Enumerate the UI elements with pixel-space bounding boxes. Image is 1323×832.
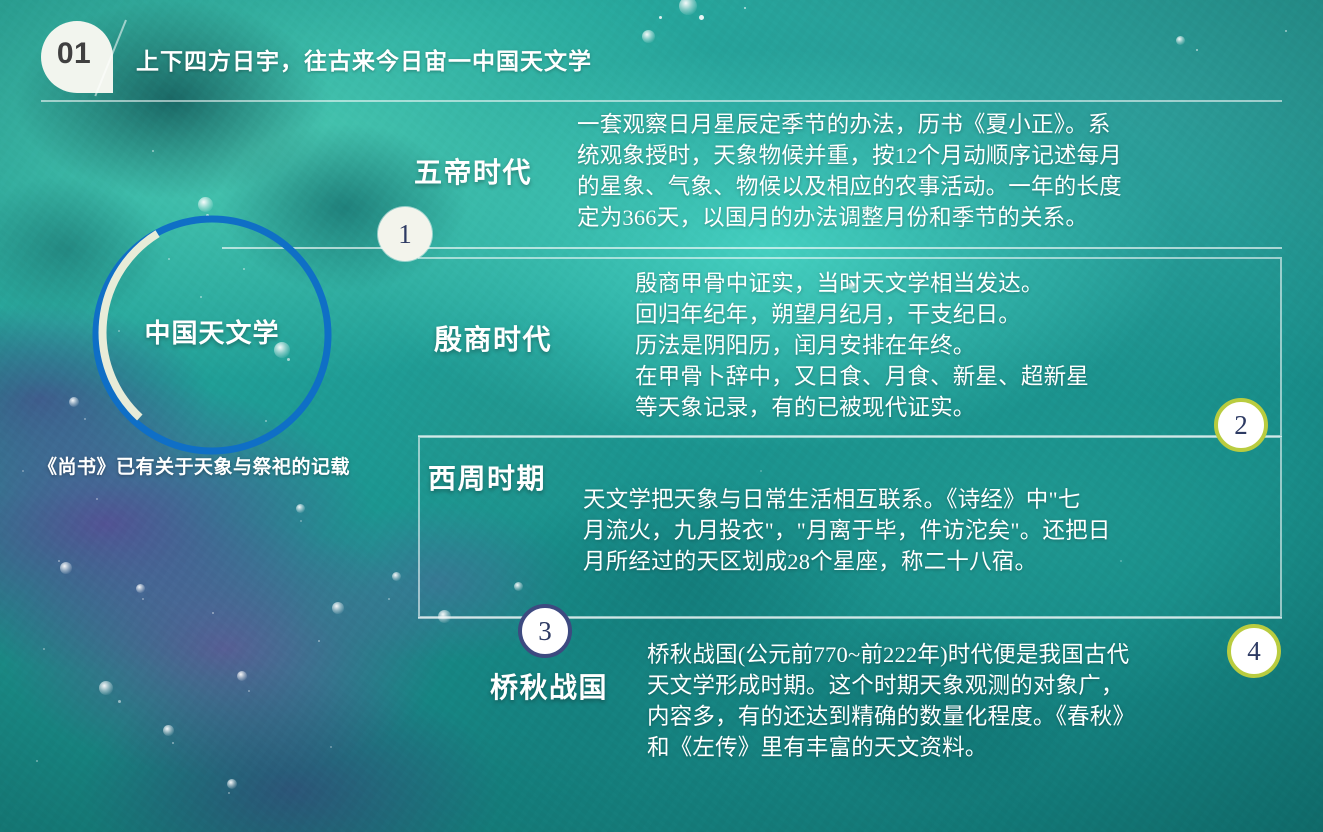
ring-caption: 《尚书》已有关于天象与祭祀的记载: [38, 452, 350, 479]
step-bubble-4-label: 4: [1247, 636, 1261, 667]
era-title-3: 西周时期: [428, 457, 546, 497]
step-bubble-2-label: 2: [1234, 410, 1248, 441]
step-bubble-3-label: 3: [538, 616, 552, 647]
era-title-4: 桥秋战国: [490, 666, 608, 706]
ring-center-label: 中国天文学: [84, 313, 340, 350]
era-body-2: 殷商甲骨中证实，当时天文学相当发达。 回归年纪年，朔望月纪月，干支纪日。 历法是…: [635, 268, 1235, 423]
era-title-1: 五帝时代: [414, 151, 532, 191]
step-bubble-3[interactable]: 3: [518, 604, 572, 658]
step-bubble-1-label: 1: [398, 219, 412, 250]
era-body-3: 天文学把天象与日常生活相互联系。《诗经》中"七 月流火，九月投衣"，"月离于毕，…: [583, 484, 1233, 577]
section-number-label: 01: [57, 37, 91, 71]
era-body-1: 一套观察日月星辰定季节的办法，历书《夏小正》。系 统观象授时，天象物候并重，按1…: [577, 109, 1237, 233]
slide-canvas: 01 上下四方日宇，往古来今日宙一中国天文学 中国天文学 《尚书》已有关于天象与…: [0, 0, 1323, 832]
step-bubble-1[interactable]: 1: [378, 207, 432, 261]
slide-header: 01 上下四方日宇，往古来今日宙一中国天文学: [0, 0, 1323, 104]
page-title: 上下四方日宇，往古来今日宙一中国天文学: [136, 42, 592, 76]
central-ring-diagram: 中国天文学: [84, 207, 340, 463]
era-title-2: 殷商时代: [434, 318, 552, 358]
section-number-badge: 01: [41, 21, 113, 93]
era-body-4: 桥秋战国(公元前770~前222年)时代便是我国古代 天文学形成时期。这个时期天…: [647, 639, 1237, 763]
header-horizontal-rule: [41, 100, 1282, 102]
